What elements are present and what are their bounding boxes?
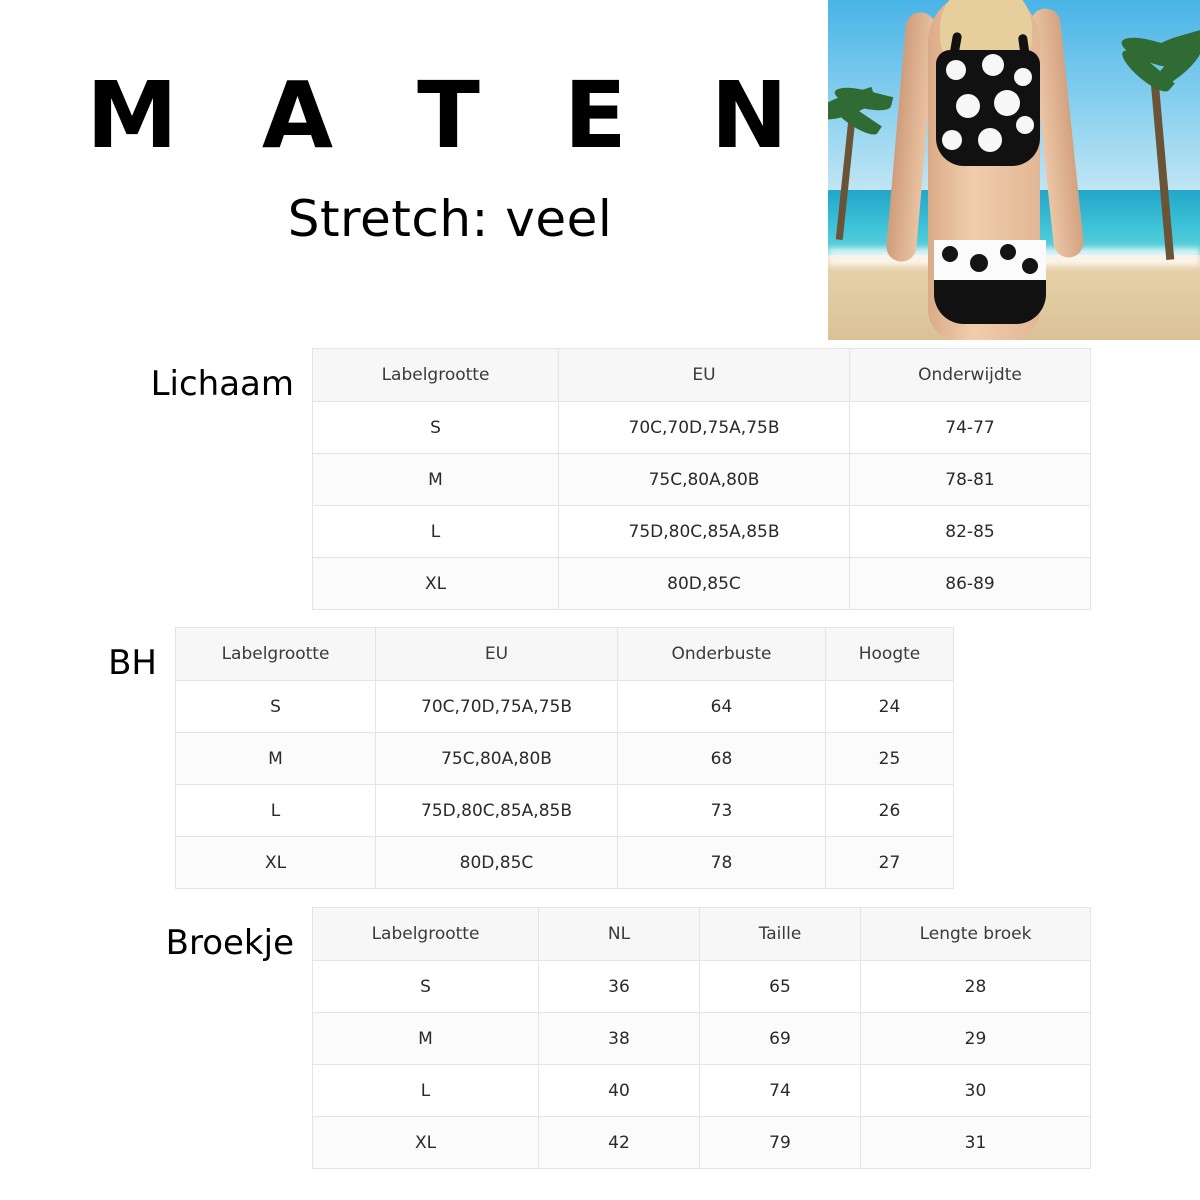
cell-size: XL: [313, 1117, 539, 1169]
column-header: Onderbuste: [618, 628, 826, 681]
cell-lengte-broek: 30: [861, 1065, 1091, 1117]
size-table-broekje: Labelgrootte NL Taille Lengte broek S 36…: [312, 907, 1091, 1169]
table-header-row: Labelgrootte EU Onderbuste Hoogte: [176, 628, 954, 681]
table-row: XL 80D,85C 86-89: [313, 558, 1091, 610]
polka-dot: [1016, 116, 1034, 134]
polka-dot: [1014, 68, 1032, 86]
table-row: S 70C,70D,75A,75B 64 24: [176, 681, 954, 733]
cell-lengte-broek: 31: [861, 1117, 1091, 1169]
table-row: M 75C,80A,80B 68 25: [176, 733, 954, 785]
section-label-lichaam: Lichaam: [0, 348, 312, 404]
cell-nl: 38: [539, 1013, 700, 1065]
bikini-waistband: [934, 240, 1046, 280]
section-lichaam: Lichaam Labelgrootte EU Onderwijdte S 70…: [0, 348, 1091, 610]
page-title: M A T E N: [0, 70, 900, 162]
cell-eu: 75C,80A,80B: [559, 454, 850, 506]
polka-dot: [994, 90, 1020, 116]
cell-onderwijdte: 86-89: [850, 558, 1091, 610]
table-header-row: Labelgrootte EU Onderwijdte: [313, 349, 1091, 402]
cell-onderbuste: 78: [618, 837, 826, 889]
cell-onderwijdte: 78-81: [850, 454, 1091, 506]
polka-dot: [942, 246, 958, 262]
section-broekje: Broekje Labelgrootte NL Taille Lengte br…: [0, 907, 1091, 1169]
cell-hoogte: 26: [826, 785, 954, 837]
cell-onderbuste: 64: [618, 681, 826, 733]
column-header: Hoogte: [826, 628, 954, 681]
column-header: Taille: [700, 908, 861, 961]
cell-hoogte: 25: [826, 733, 954, 785]
table-row: M 38 69 29: [313, 1013, 1091, 1065]
column-header: EU: [376, 628, 618, 681]
table-row: L 75D,80C,85A,85B 82-85: [313, 506, 1091, 558]
cell-eu: 75C,80A,80B: [376, 733, 618, 785]
table-header-row: Labelgrootte NL Taille Lengte broek: [313, 908, 1091, 961]
cell-nl: 40: [539, 1065, 700, 1117]
section-label-broekje: Broekje: [0, 907, 312, 963]
column-header: NL: [539, 908, 700, 961]
polka-dot: [1022, 258, 1038, 274]
cell-nl: 36: [539, 961, 700, 1013]
stretch-subtitle: Stretch: veel: [0, 190, 900, 248]
cell-eu: 75D,80C,85A,85B: [376, 785, 618, 837]
polka-dot: [978, 128, 1002, 152]
polka-dot: [970, 254, 988, 272]
column-header: Onderwijdte: [850, 349, 1091, 402]
polka-dot: [982, 54, 1004, 76]
cell-onderbuste: 73: [618, 785, 826, 837]
cell-taille: 79: [700, 1117, 861, 1169]
cell-eu: 80D,85C: [559, 558, 850, 610]
table-row: M 75C,80A,80B 78-81: [313, 454, 1091, 506]
cell-onderbuste: 68: [618, 733, 826, 785]
column-header: Labelgrootte: [313, 349, 559, 402]
cell-onderwijdte: 82-85: [850, 506, 1091, 558]
cell-size: XL: [313, 558, 559, 610]
cell-lengte-broek: 28: [861, 961, 1091, 1013]
table-row: S 70C,70D,75A,75B 74-77: [313, 402, 1091, 454]
cell-size: S: [176, 681, 376, 733]
polka-dot: [946, 60, 966, 80]
cell-size: M: [313, 454, 559, 506]
column-header: Labelgrootte: [176, 628, 376, 681]
cell-eu: 75D,80C,85A,85B: [559, 506, 850, 558]
column-header: Lengte broek: [861, 908, 1091, 961]
polka-dot: [942, 130, 962, 150]
polka-dot: [956, 94, 980, 118]
polka-dot: [1000, 244, 1016, 260]
table-row: XL 42 79 31: [313, 1117, 1091, 1169]
cell-eu: 80D,85C: [376, 837, 618, 889]
column-header: Labelgrootte: [313, 908, 539, 961]
section-bh: BH Labelgrootte EU Onderbuste Hoogte S 7…: [0, 627, 954, 889]
cell-nl: 42: [539, 1117, 700, 1169]
table-row: S 36 65 28: [313, 961, 1091, 1013]
size-table-bh: Labelgrootte EU Onderbuste Hoogte S 70C,…: [175, 627, 954, 889]
cell-size: XL: [176, 837, 376, 889]
cell-hoogte: 27: [826, 837, 954, 889]
cell-lengte-broek: 29: [861, 1013, 1091, 1065]
table-row: L 40 74 30: [313, 1065, 1091, 1117]
table-row: XL 80D,85C 78 27: [176, 837, 954, 889]
cell-size: L: [313, 506, 559, 558]
column-header: EU: [559, 349, 850, 402]
cell-size: L: [313, 1065, 539, 1117]
cell-size: M: [176, 733, 376, 785]
cell-size: L: [176, 785, 376, 837]
cell-taille: 69: [700, 1013, 861, 1065]
model-figure: [890, 0, 1090, 340]
table-row: L 75D,80C,85A,85B 73 26: [176, 785, 954, 837]
section-label-bh: BH: [0, 627, 175, 683]
cell-eu: 70C,70D,75A,75B: [559, 402, 850, 454]
cell-size: M: [313, 1013, 539, 1065]
size-table-lichaam: Labelgrootte EU Onderwijdte S 70C,70D,75…: [312, 348, 1091, 610]
cell-taille: 65: [700, 961, 861, 1013]
cell-size: S: [313, 961, 539, 1013]
cell-taille: 74: [700, 1065, 861, 1117]
cell-eu: 70C,70D,75A,75B: [376, 681, 618, 733]
bikini-model-photo: [828, 0, 1200, 340]
bikini-top: [936, 50, 1040, 166]
cell-size: S: [313, 402, 559, 454]
cell-onderwijdte: 74-77: [850, 402, 1091, 454]
cell-hoogte: 24: [826, 681, 954, 733]
